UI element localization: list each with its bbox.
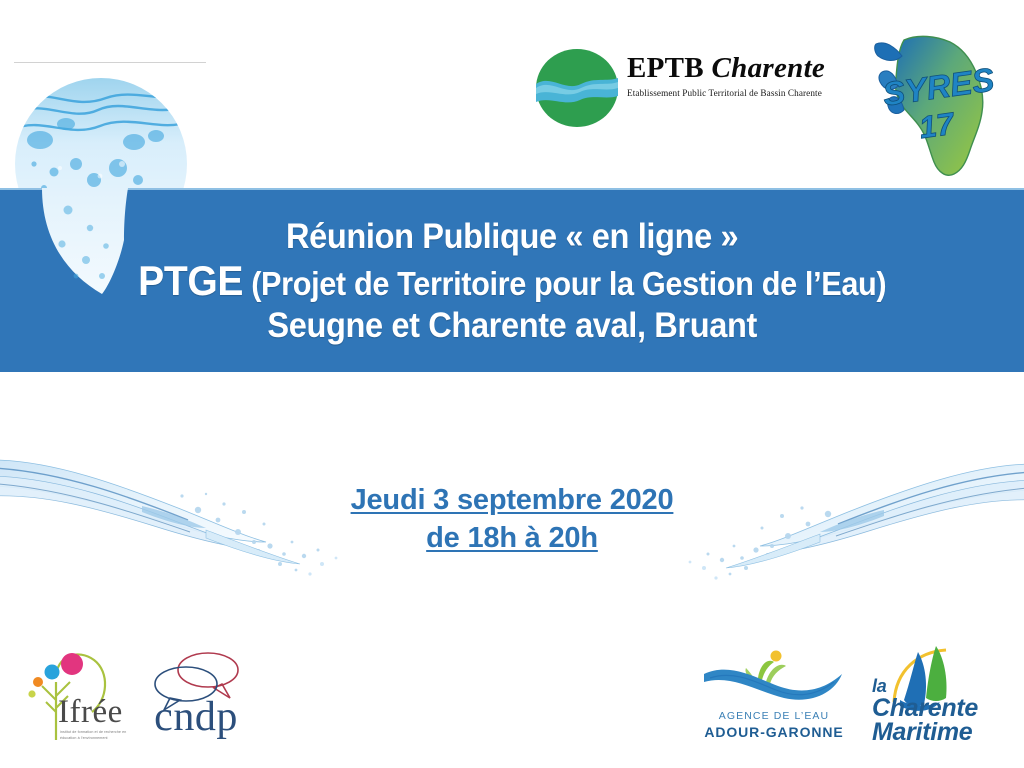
title-line-3: Seugne et Charente aval, Bruant: [267, 306, 757, 345]
agence-eau-wave-icon: [700, 648, 848, 708]
date-line-2: de 18h à 20h: [426, 519, 598, 557]
cm-line1: la: [872, 678, 990, 696]
eptb-globe-icon: [535, 48, 619, 128]
cndp-wordmark: cndp: [146, 696, 246, 738]
cndp-logo: cndp: [144, 648, 248, 744]
charente-maritime-logo: la Charente Maritime: [870, 644, 990, 750]
syres-17-logo: SYRES 17: [866, 28, 1014, 180]
date-line-1: Jeudi 3 septembre 2020: [351, 481, 674, 519]
ifree-logo: Ifrée institut de formation et de recher…: [22, 638, 132, 748]
date-block: Jeudi 3 septembre 2020 de 18h à 20h: [0, 481, 1024, 558]
ifree-tagline: institut de formation et de recherche en…: [60, 730, 136, 741]
syres-label-line2: 17: [917, 106, 958, 146]
agence-eau-line2: ADOUR-GARONNE: [700, 724, 848, 740]
cm-line3: Maritime: [872, 720, 990, 745]
eptb-wordmark: EPTB Charente: [627, 54, 843, 83]
decorative-rule: [14, 62, 206, 63]
eptb-acronym: EPTB: [627, 52, 704, 84]
title-ptge-expansion: (Projet de Territoire pour la Gestion de…: [251, 265, 886, 302]
ifree-wordmark: Ifrée: [58, 696, 123, 729]
eptb-charente-logo: EPTB Charente Etablissement Public Terri…: [535, 48, 845, 130]
eptb-subtitle: Etablissement Public Territorial de Bass…: [627, 88, 843, 98]
charente-maritime-wordmark: la Charente Maritime: [872, 678, 990, 745]
speech-bubble-tail: [40, 188, 180, 298]
agence-eau-line1: AGENCE DE L’EAU: [700, 710, 848, 722]
title-line-2: PTGE (Projet de Territoire pour la Gesti…: [138, 257, 886, 304]
eptb-charente-word: Charente: [712, 52, 826, 84]
agence-eau-adour-garonne-logo: AGENCE DE L’EAU ADOUR-GARONNE: [700, 648, 848, 748]
cm-line2: Charente: [872, 696, 990, 721]
title-line-1: Réunion Publique « en ligne »: [286, 217, 738, 256]
slide-canvas: Réunion Publique « en ligne » PTGE (Proj…: [0, 0, 1024, 768]
